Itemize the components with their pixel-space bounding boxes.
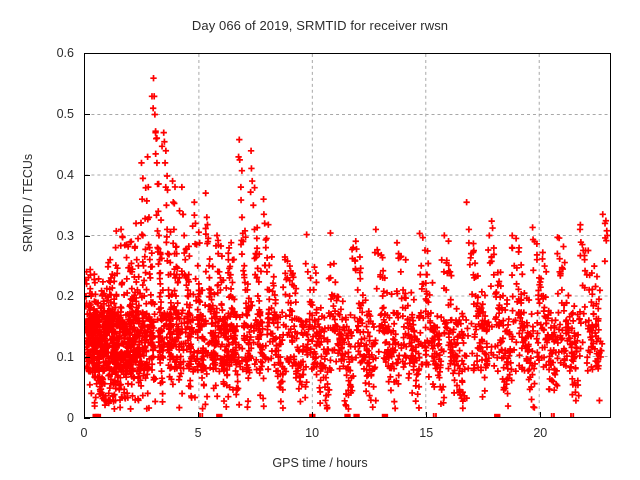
x-tick-label: 20: [520, 426, 560, 440]
y-tick-mark: [84, 175, 90, 176]
y-tick-mark: [84, 418, 90, 419]
x-tick-mark: [312, 412, 313, 418]
y-tick-mark: [84, 236, 90, 237]
y-tick-mark: [84, 357, 90, 358]
x-tick-label: 10: [292, 426, 332, 440]
chart-root: Day 066 of 2019, SRMTID for receiver rws…: [0, 0, 640, 480]
axis-ticks: 00.10.20.30.40.50.605101520: [0, 0, 640, 480]
x-tick-label: 5: [178, 426, 218, 440]
y-tick-label: 0.5: [22, 107, 74, 121]
x-tick-label: 0: [64, 426, 104, 440]
x-tick-mark: [84, 412, 85, 418]
x-tick-mark: [198, 412, 199, 418]
y-tick-mark: [84, 53, 90, 54]
y-tick-label: 0: [22, 411, 74, 425]
y-tick-label: 0.1: [22, 350, 74, 364]
x-axis-label: GPS time / hours: [0, 456, 640, 470]
y-tick-mark: [84, 114, 90, 115]
y-tick-mark: [84, 296, 90, 297]
x-tick-label: 15: [406, 426, 446, 440]
y-tick-label: 0.6: [22, 46, 74, 60]
y-axis-label: SRMTID / TECUs: [21, 123, 35, 283]
x-tick-mark: [426, 412, 427, 418]
y-tick-label: 0.2: [22, 289, 74, 303]
x-tick-mark: [540, 412, 541, 418]
